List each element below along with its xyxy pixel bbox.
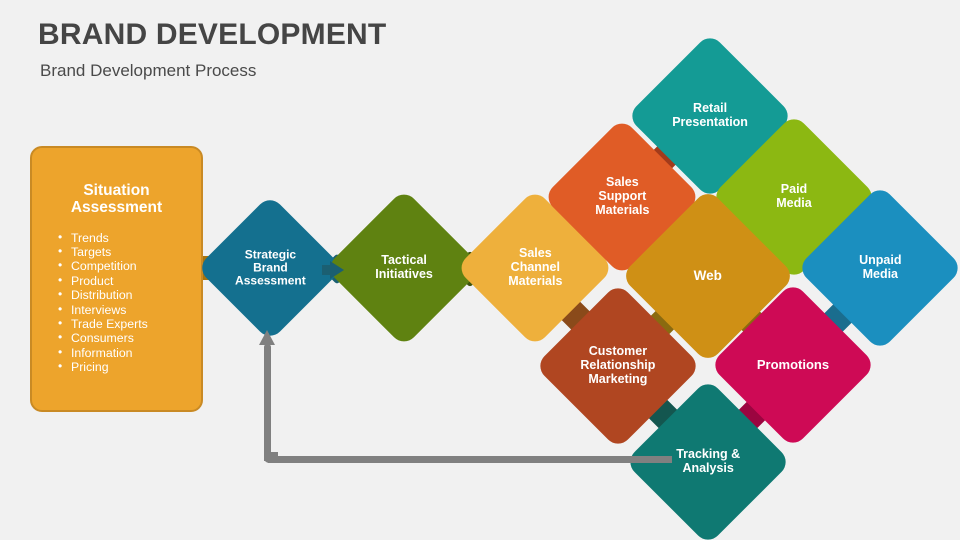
- situation-assessment-list: TrendsTargetsCompetitionProductDistribut…: [58, 231, 201, 375]
- node-label: Customer Relationship Marketing: [580, 345, 655, 386]
- situation-assessment-item: Distribution: [58, 288, 201, 302]
- situation-assessment-item: Information: [58, 346, 201, 360]
- feedback-arrow-vertical: [264, 344, 271, 461]
- feedback-arrow-horizontal: [268, 456, 672, 463]
- feedback-arrow-head-icon: [259, 330, 275, 345]
- node-label: Sales Channel Materials: [508, 247, 562, 288]
- node-label: Web: [694, 269, 722, 284]
- situation-assessment-item: Targets: [58, 245, 201, 259]
- node-label: Retail Presentation: [672, 102, 748, 130]
- node-tactical-initiatives[interactable]: Tactical Initiatives: [325, 189, 483, 347]
- situation-assessment-title: Situation Assessment: [32, 182, 201, 217]
- page-subtitle: Brand Development Process: [40, 61, 256, 81]
- node-label: Strategic Brand Assessment: [235, 248, 306, 288]
- node-label: Tactical Initiatives: [375, 254, 433, 282]
- node-label: Tracking & Analysis: [676, 448, 740, 476]
- node-label: Promotions: [757, 358, 829, 372]
- node-label: Unpaid Media: [859, 254, 901, 282]
- node-label: Sales Support Materials: [595, 176, 649, 217]
- page-title: BRAND DEVELOPMENT: [38, 18, 386, 52]
- node-label: Paid Media: [776, 183, 811, 211]
- slide-canvas: BRAND DEVELOPMENT Brand Development Proc…: [0, 0, 960, 540]
- situation-assessment-item: Consumers: [58, 331, 201, 345]
- arrow-strategic-to-tactical-icon: [330, 261, 344, 279]
- situation-assessment-item: Interviews: [58, 303, 201, 317]
- situation-assessment-item: Pricing: [58, 360, 201, 374]
- situation-assessment-panel[interactable]: Situation Assessment TrendsTargetsCompet…: [30, 146, 203, 412]
- situation-assessment-item: Trade Experts: [58, 317, 201, 331]
- situation-assessment-item: Trends: [58, 231, 201, 245]
- situation-assessment-item: Competition: [58, 259, 201, 273]
- situation-assessment-item: Product: [58, 274, 201, 288]
